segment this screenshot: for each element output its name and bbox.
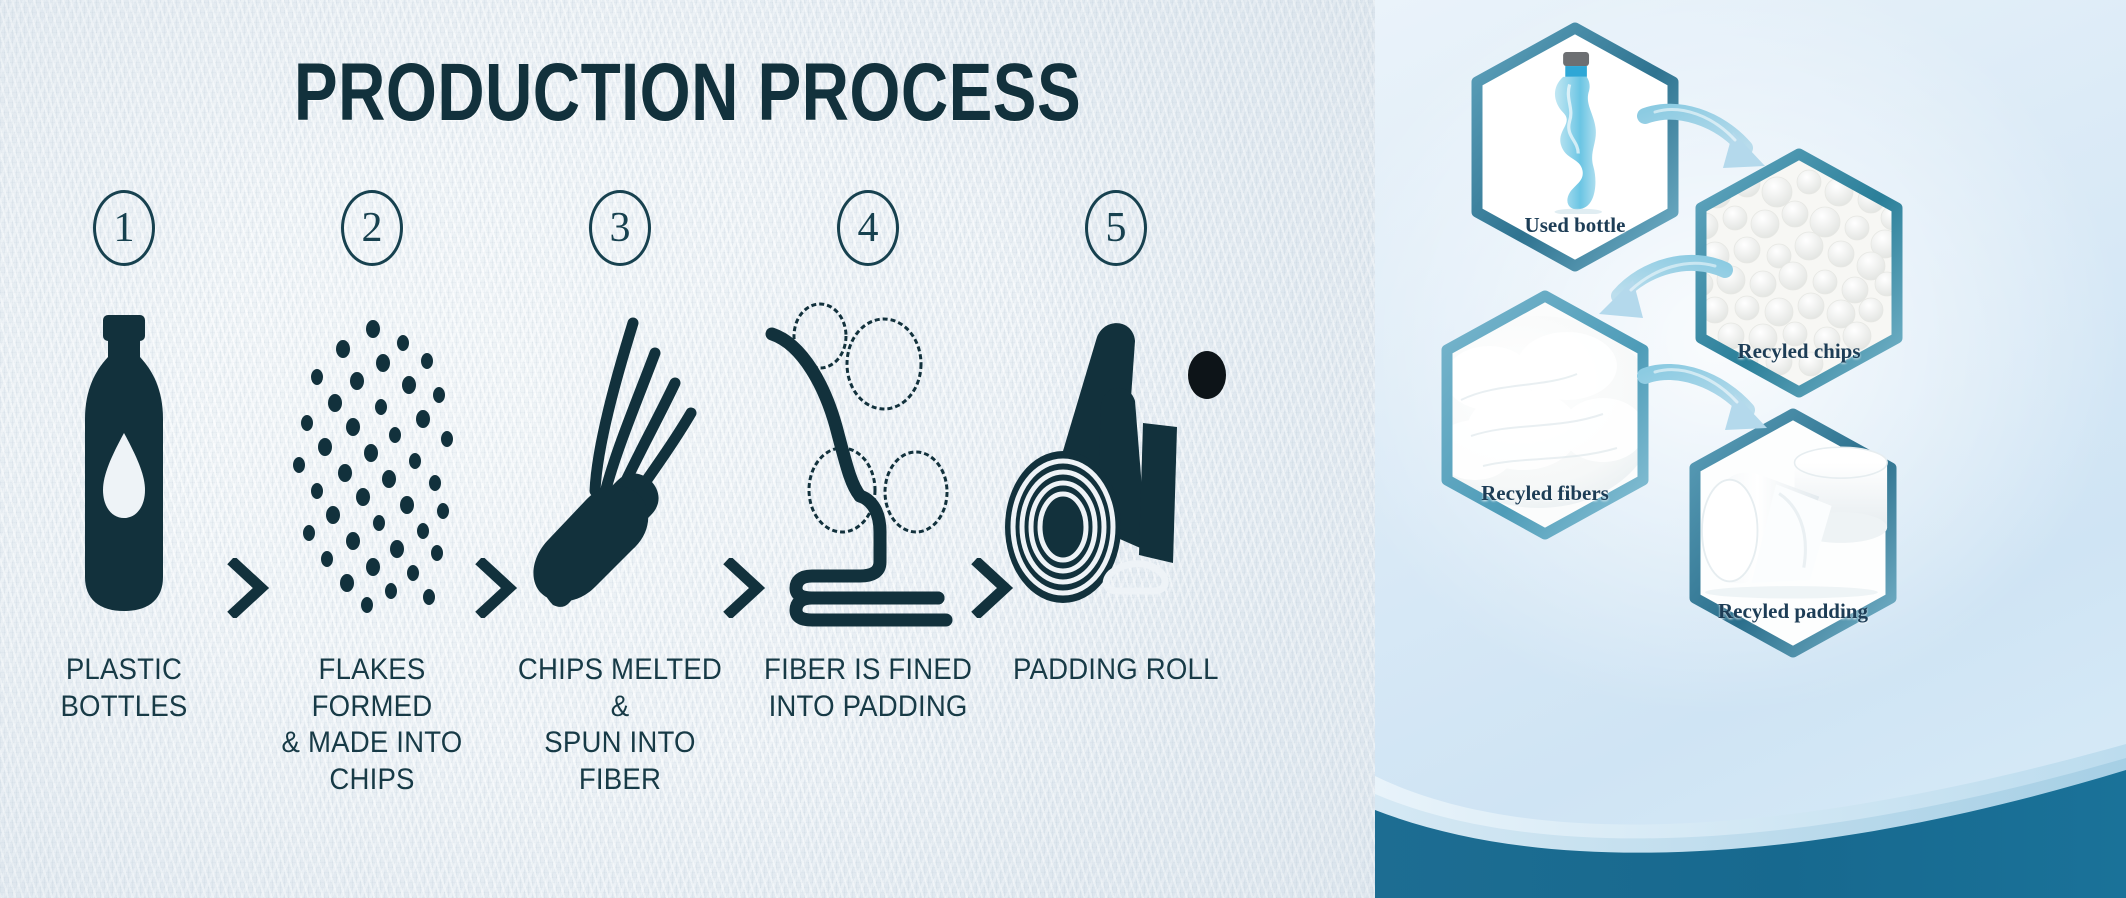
plastic-bottle-icon: [0, 300, 248, 630]
padding-roll-photo: [1675, 438, 1911, 600]
curved-arrow-right-icon: [1637, 86, 1787, 176]
cycle-node-label: Recyled padding: [1675, 599, 1911, 624]
step-number-badge-4: 4: [837, 190, 899, 266]
curved-arrow-left-icon: [1575, 236, 1735, 332]
process-steps: 1 PLASTIC BOTTLES: [0, 190, 1375, 830]
step-caption-4: FIBER IS FINED INTO PADDING: [764, 652, 972, 725]
bottom-wave-decoration: [1375, 658, 2126, 898]
flakes-dots-icon: [248, 300, 496, 630]
curved-arrow-right-icon: [1637, 348, 1787, 444]
production-process-panel: PRODUCTION PROCESS 1 PLASTIC: [0, 0, 1375, 898]
page-title: PRODUCTION PROCESS: [138, 52, 1238, 134]
cycle-node-label: Recyled fibers: [1427, 481, 1663, 506]
process-step-4: 4 F: [744, 190, 992, 725]
step-caption-5: PADDING ROLL: [1013, 652, 1219, 689]
process-step-3: 3 CHIPS MELTED & SP: [496, 190, 744, 798]
padding-roll-icon: [992, 300, 1240, 630]
process-step-2: 2: [248, 190, 496, 798]
cycle-node-recyled-padding[interactable]: Recyled padding: [1675, 408, 1911, 658]
process-step-1: 1 PLASTIC BOTTLES: [0, 190, 248, 725]
step-caption-3: CHIPS MELTED & SPUN INTO FIBER: [506, 652, 734, 798]
step-number-badge-1: 1: [93, 190, 155, 266]
fiber-padding-icon: [744, 300, 992, 630]
process-step-5: 5: [992, 190, 1240, 689]
infographic-stage: PRODUCTION PROCESS 1 PLASTIC: [0, 0, 2126, 898]
cycle-node-label: Used bottle: [1457, 213, 1693, 238]
step-caption-2: FLAKES FORMED & MADE INTO CHIPS: [258, 652, 486, 798]
step-caption-1: PLASTIC BOTTLES: [10, 652, 238, 725]
step-number-badge-3: 3: [589, 190, 651, 266]
step-number-badge-2: 2: [341, 190, 403, 266]
step-number-badge-5: 5: [1085, 190, 1147, 266]
recycling-cycle-panel: Used bottle: [1375, 0, 2126, 898]
fiber-bundle-icon: [496, 300, 744, 630]
